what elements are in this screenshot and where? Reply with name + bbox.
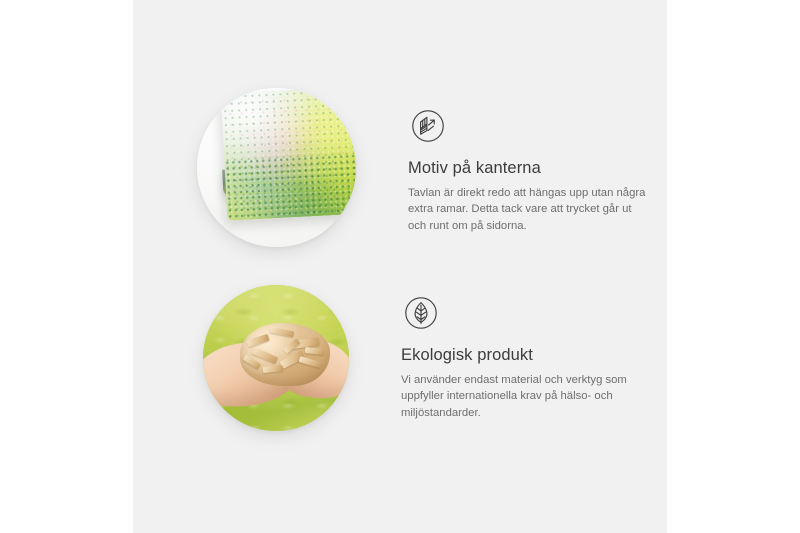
- canvas-photo-background: [197, 88, 356, 247]
- feature-block-eco-product: Ekologisk produkt Vi använder endast mat…: [203, 285, 644, 431]
- feature-description: Tavlan är direkt redo att hängas upp uta…: [408, 185, 651, 234]
- feature-block-canvas-edges: Motiv på kanterna Tavlan är direkt redo …: [197, 88, 651, 247]
- feature-title: Motiv på kanterna: [408, 159, 651, 179]
- leaf-icon: [401, 293, 441, 333]
- canvas-edge-print-icon: [408, 106, 448, 146]
- canvas-front-face: [221, 88, 356, 221]
- canvas-print-corner-photo: [197, 88, 356, 247]
- eco-photo-background: [203, 285, 349, 431]
- feature-title: Ekologisk produkt: [401, 346, 644, 366]
- canvas-texture-speckle-dense: [224, 152, 356, 221]
- feature-description: Vi använder endast material och verktyg …: [401, 372, 644, 421]
- hands-holding-wood-chips-photo: [203, 285, 349, 431]
- feature-copy-eco-product: Ekologisk produkt Vi använder endast mat…: [401, 285, 644, 421]
- screenshot-stage: Motiv på kanterna Tavlan är direkt redo …: [0, 0, 800, 533]
- wood-chip-pile: [240, 323, 331, 386]
- feature-panel: Motiv på kanterna Tavlan är direkt redo …: [133, 0, 667, 533]
- feature-copy-canvas-edges: Motiv på kanterna Tavlan är direkt redo …: [408, 88, 651, 234]
